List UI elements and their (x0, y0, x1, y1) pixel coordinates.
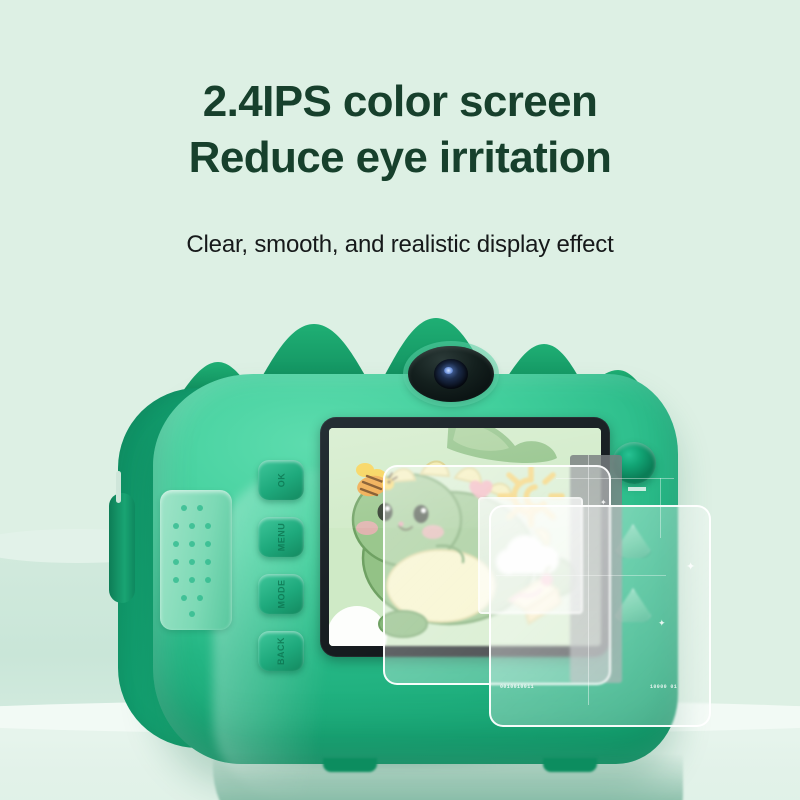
glass-panel-right (489, 505, 711, 727)
camera-lens (408, 346, 494, 402)
menu-button[interactable]: MENU (258, 517, 304, 557)
micro-text-right: 10000 01 (650, 684, 677, 690)
mode-button-label: MODE (276, 580, 286, 609)
page-subtitle: Clear, smooth, and realistic display eff… (0, 231, 800, 259)
left-button-column: OK MENU MODE BACK (258, 460, 318, 680)
sparkle-icon: ✦ (686, 560, 695, 573)
body-shading (213, 754, 683, 800)
mode-button[interactable]: MODE (258, 574, 304, 614)
guide-line (556, 478, 674, 479)
page-title: 2.4IPS color screen Reduce eye irritatio… (0, 74, 800, 187)
guide-line (496, 575, 666, 576)
sparkle-icon: ✦ (600, 498, 607, 507)
ok-button-label: OK (276, 473, 286, 488)
camera-foot (323, 758, 377, 772)
lens-glass (434, 359, 468, 389)
speaker-grille (160, 490, 232, 630)
guide-line (660, 478, 661, 538)
micro-text-left: 0010010011 (500, 684, 534, 690)
strap-loop[interactable] (109, 493, 135, 603)
menu-button-label: MENU (276, 523, 286, 552)
back-button[interactable]: BACK (258, 631, 304, 671)
headline-line-2: Reduce eye irritation (0, 130, 800, 186)
headline-line-1: 2.4IPS color screen (203, 77, 598, 126)
product-image-stage: 2.4IPS color screen Reduce eye irritatio… (0, 0, 800, 800)
guide-line (588, 455, 589, 705)
camera-foot (543, 758, 597, 772)
back-button-label: BACK (276, 637, 286, 665)
ok-button[interactable]: OK (258, 460, 304, 500)
grille-dots-icon (160, 490, 232, 630)
sparkle-icon: ✦ (658, 618, 666, 629)
guide-tick (628, 487, 646, 491)
